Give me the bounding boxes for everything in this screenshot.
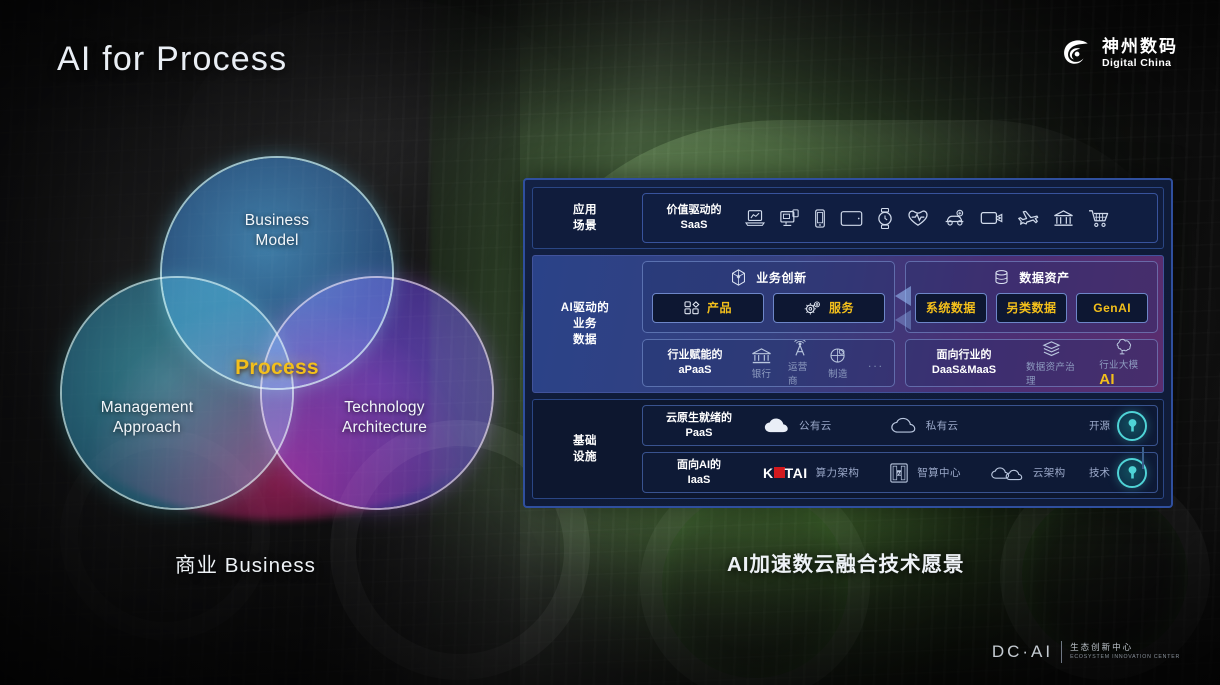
row-ai-driven-business-data: AI驱动的 业务 数据 业务创新 产品 [532, 255, 1164, 393]
footer-text-en: ECOSYSTEM INNOVATION CENTER [1070, 655, 1180, 661]
infra-title-iaas: 面向AI的 IaaS [653, 458, 745, 488]
row-label-app-line2: 场景 [573, 218, 597, 234]
chip-alternative-data-label: 另类数据 [1007, 299, 1057, 316]
brand-logo: 神州数码 Digital China [1059, 36, 1178, 70]
iaas-label-compute-arch: 算力架构 [816, 465, 860, 480]
chip-alternative-data[interactable]: 另类数据 [996, 293, 1068, 323]
venn-label-technology-line1: Technology [344, 399, 424, 416]
tablet-icon [840, 210, 863, 227]
ai-datacenter-icon: AI [889, 462, 909, 484]
row-infrastructure: 基础 设施 云原生就绪的 PaaS 公有云 [532, 399, 1164, 499]
daas-label-data-governance: 数据资产治理 [1026, 359, 1077, 387]
apaas-label-operator: 运营商 [788, 359, 812, 387]
infra-title-paas-line1: 云原生就绪的 [666, 412, 732, 424]
paas-open-source-badge: 开源 [1089, 411, 1147, 441]
smartphone-icon [814, 209, 826, 228]
strip-items-daas-maas: 数据资产治理 行业大模AI [1012, 338, 1147, 388]
chip-product[interactable]: 产品 [652, 293, 764, 323]
daas-label-ai-suffix: AI [1099, 371, 1115, 388]
venn-label-business-model: Business Model [212, 211, 342, 252]
strip-title-daas-maas: 面向行业的 DaaS&MaaS [916, 348, 1012, 378]
daas-item-data-governance: 数据资产治理 [1026, 340, 1077, 387]
venn-label-business-line2: Model [255, 232, 298, 249]
multi-cloud-icon [991, 464, 1025, 482]
card-head-business-innovation: 业务创新 [643, 263, 894, 293]
row-label-infra-line2: 设施 [573, 449, 597, 465]
smartwatch-icon [877, 208, 893, 229]
iaas-badge-label: 技术 [1089, 465, 1110, 480]
apaas-item-manufacturing: 制造 [828, 347, 848, 380]
logo-text-cn: 神州数码 [1102, 38, 1178, 55]
card-business-innovation: 业务创新 产品 服务 [642, 261, 895, 333]
venn-circle-business [162, 158, 392, 388]
apaas-label-manufacturing: 制造 [828, 366, 848, 380]
apaas-item-bank: 银行 [751, 347, 772, 380]
video-camera-icon [980, 210, 1004, 226]
data-governance-icon [1041, 340, 1062, 358]
saas-icon-strip [745, 208, 1110, 229]
iaas-label-cloud-arch: 云架构 [1033, 465, 1066, 480]
footer-divider [1061, 641, 1062, 663]
car-icon [943, 209, 966, 227]
daas-item-industry-model: 行业大模AI [1099, 338, 1147, 388]
ai-columns: 业务创新 产品 服务 [642, 261, 1158, 387]
infra-row-paas: 云原生就绪的 PaaS 公有云 私有云 开源 [642, 405, 1158, 446]
laptop-chart-icon [745, 209, 765, 227]
row-label-ai-line1: AI驱动的 [561, 300, 610, 316]
daas-label-industry-model: 行业大模AI [1099, 357, 1147, 388]
apaas-item-operator: 运营商 [788, 340, 812, 387]
row-label-app-line1: 应用 [573, 202, 597, 218]
row-label-ai-line3: 数据 [573, 332, 597, 348]
venn-label-business-line1: Business [245, 212, 310, 229]
row-label-infra-line1: 基础 [573, 433, 597, 449]
chip-service[interactable]: 服务 [773, 293, 885, 323]
paas-item-public-cloud: 公有云 [763, 417, 832, 435]
chip-system-data[interactable]: 系统数据 [915, 293, 987, 323]
shopping-cart-icon [1088, 209, 1110, 228]
airplane-icon [1018, 209, 1039, 228]
infrastructure-rows: 云原生就绪的 PaaS 公有云 私有云 开源 [642, 405, 1158, 493]
card-head-data-assets: 数据资产 [906, 263, 1157, 293]
paas-item-private-cloud: 私有云 [890, 417, 959, 435]
card-title-data-assets: 数据资产 [1019, 269, 1069, 286]
row-application-scenarios: 应用 场景 价值驱动的 SaaS [532, 187, 1164, 249]
strip-title-apaas: 行业赋能的 aPaaS [653, 348, 737, 378]
row-label-application-scenarios: 应用 场景 [533, 188, 637, 248]
daas-label-industry-model-text: 行业大模 [1099, 360, 1138, 371]
heartbeat-icon [907, 209, 929, 227]
brain-model-icon [1112, 338, 1134, 356]
iaas-item-cloud-arch: 云架构 [991, 464, 1066, 482]
paas-badge-label: 开源 [1089, 418, 1110, 433]
infra-items-paas: 公有云 私有云 [745, 417, 1089, 435]
chip-service-label: 服务 [829, 299, 854, 316]
infra-title-paas: 云原生就绪的 PaaS [653, 411, 745, 441]
strip-title-daas-line2: DaaS&MaaS [932, 364, 996, 376]
saas-title: 价值驱动的 SaaS [657, 203, 731, 234]
logo-text-en: Digital China [1102, 58, 1178, 69]
strip-daas-maas: 面向行业的 DaaS&MaaS 数据资产治理 行业大模AI [905, 339, 1158, 387]
strip-title-apaas-line2: aPaaS [678, 364, 711, 376]
row-label-ai-driven: AI驱动的 业务 数据 [533, 256, 637, 392]
chip-genai[interactable]: GenAI [1076, 293, 1148, 323]
kutai-square-mark [774, 467, 785, 478]
business-innovation-column: 业务创新 产品 服务 [642, 261, 895, 387]
oss-connector-line [1142, 447, 1144, 469]
saas-title-line2: SaaS [681, 219, 708, 231]
page-title: AI for Process [57, 40, 287, 79]
apaas-more-ellipsis: ... [864, 356, 884, 370]
chip-product-label: 产品 [707, 299, 732, 316]
paas-label-private-cloud: 私有云 [926, 418, 959, 433]
infra-row-iaas: 面向AI的 IaaS KTAI 算力架构 AI 智算中心 [642, 452, 1158, 493]
saas-title-line1: 价值驱动的 [667, 204, 722, 216]
antenna-icon [790, 340, 810, 358]
strip-title-daas-line1: 面向行业的 [937, 349, 992, 361]
row-label-infrastructure: 基础 设施 [533, 400, 637, 498]
venn-label-process: Process [197, 356, 357, 380]
caption-left: 商业 Business [175, 548, 316, 578]
card-data-assets: 数据资产 系统数据 另类数据 GenAI [905, 261, 1158, 333]
data-assets-column: 数据资产 系统数据 另类数据 GenAI [905, 261, 1158, 387]
venn-label-technology-architecture: Technology Architecture [307, 398, 462, 439]
openeuler-icon [1117, 411, 1147, 441]
infra-title-iaas-line2: IaaS [688, 474, 711, 486]
swirl-logo-icon [1059, 36, 1093, 70]
bank-icon [751, 347, 772, 365]
infra-items-iaas: KTAI 算力架构 AI 智算中心 云架构 [745, 462, 1089, 484]
infra-title-iaas-line1: 面向AI的 [677, 459, 721, 471]
database-icon [993, 269, 1010, 286]
svg-text:AI: AI [897, 470, 902, 475]
footer-brand-logo: DC·AI 生态创新中心 ECOSYSTEM INNOVATION CENTER [992, 641, 1180, 663]
bank-icon [1053, 209, 1074, 228]
saas-subbox: 价值驱动的 SaaS [642, 193, 1158, 243]
iaas-item-compute-arch: KTAI 算力架构 [763, 465, 859, 481]
cloud-outline-icon [890, 417, 918, 435]
apaas-label-bank: 银行 [752, 366, 772, 380]
chip-genai-label: GenAI [1093, 301, 1131, 315]
venn-label-management-line1: Management [101, 399, 193, 416]
kutai-brand-text: KTAI [763, 465, 808, 481]
footer-text-cn: 生态创新中心 [1070, 643, 1180, 653]
cube-cluster-icon [730, 269, 747, 286]
iaas-item-ai-datacenter: AI 智算中心 [889, 462, 961, 484]
venn-diagram: Business Model Management Approach Techn… [62, 158, 462, 518]
gears-icon [804, 300, 822, 315]
blocks-icon [684, 301, 700, 315]
kutai-logo-icon: KTAI [763, 465, 808, 481]
row-label-ai-line2: 业务 [573, 316, 597, 332]
chips-business-innovation: 产品 服务 [643, 293, 894, 332]
footer-brand-text: DC·AI [992, 642, 1053, 662]
venn-label-management-line2: Approach [113, 419, 181, 436]
chip-system-data-label: 系统数据 [926, 299, 976, 316]
iaas-label-ai-datacenter: 智算中心 [917, 465, 961, 480]
desktop-monitor-icon [779, 209, 800, 228]
venn-label-technology-line2: Architecture [342, 419, 427, 436]
card-title-business-innovation: 业务创新 [756, 269, 806, 286]
iaas-tech-badge: 技术 [1089, 458, 1147, 488]
venn-label-management-approach: Management Approach [72, 398, 222, 439]
cloud-filled-icon [763, 417, 791, 435]
paas-label-public-cloud: 公有云 [799, 418, 832, 433]
infra-title-paas-line2: PaaS [686, 427, 713, 439]
strip-items-apaas: 银行 运营商 制造 ... [737, 340, 884, 387]
strip-apaas: 行业赋能的 aPaaS 银行 运营商 [642, 339, 895, 387]
chips-data-assets: 系统数据 另类数据 GenAI [906, 293, 1157, 332]
caption-right: AI加速数云融合技术愿景 [727, 547, 965, 577]
manufacturing-icon [828, 347, 848, 365]
strip-title-apaas-line1: 行业赋能的 [668, 349, 723, 361]
tech-vision-panel: 应用 场景 价值驱动的 SaaS [523, 178, 1173, 508]
